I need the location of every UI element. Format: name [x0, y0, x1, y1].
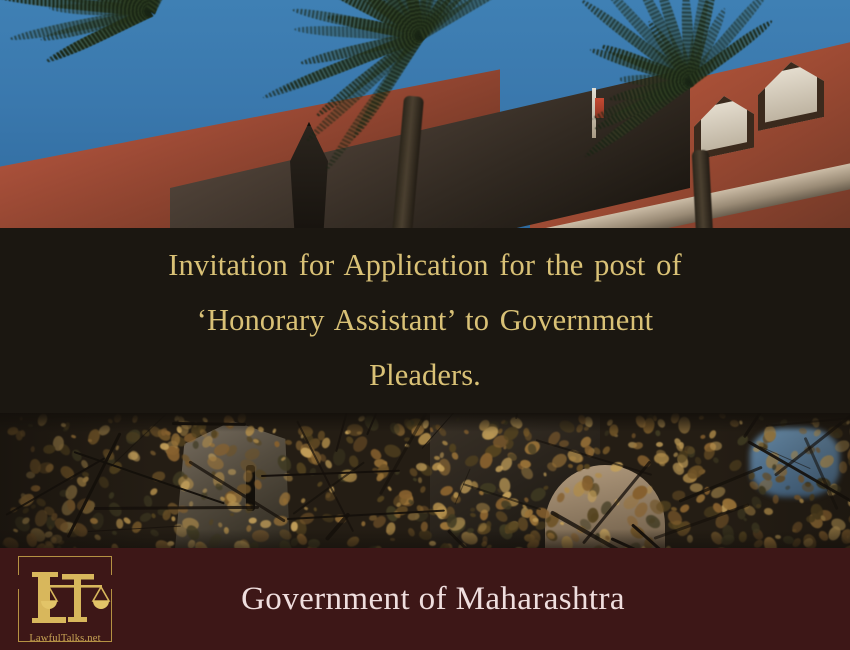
footer-title: Government of Maharashtra — [126, 581, 850, 618]
palm-frond — [415, 0, 445, 37]
palm-frond — [0, 0, 151, 17]
hero-image-bottom — [0, 413, 850, 548]
logo-lockup[interactable]: LawfulTalks.net — [6, 552, 126, 646]
palm-frond — [54, 0, 152, 16]
palm-frond — [39, 6, 153, 45]
palm-frond — [302, 0, 422, 40]
palm-frond — [73, 0, 155, 14]
palm-frond — [278, 31, 422, 96]
palm-frond — [124, 0, 155, 12]
hero-image-top — [0, 0, 850, 228]
palm-frond — [0, 0, 150, 17]
palm-frond — [417, 0, 538, 40]
palm-frond — [319, 0, 424, 39]
title-line: Pleaders. — [35, 348, 815, 403]
palm-frond — [42, 7, 153, 67]
photo-vignette — [0, 413, 850, 548]
palm-frond — [291, 4, 421, 40]
palm-frond — [294, 24, 420, 41]
title-line: Invitation for Application for the post … — [35, 238, 815, 293]
palm-frond — [145, 0, 196, 13]
title-line: ‘Honorary Assistant’ to Government — [35, 293, 815, 348]
poster-root: Invitation for Application for the post … — [0, 0, 850, 650]
palm-frond — [289, 0, 424, 40]
palm-frond — [685, 0, 720, 83]
palm-frond — [60, 0, 154, 15]
palm-frond — [49, 7, 153, 63]
footer-band: LawfulTalks.net Government of Maharashtr… — [0, 548, 850, 650]
palm-frond — [395, 0, 426, 37]
palm-frond — [23, 0, 151, 17]
flagpole — [592, 88, 596, 138]
palm-frond — [58, 0, 154, 15]
palm-frond — [344, 0, 426, 38]
palm-frond — [49, 3, 150, 17]
palm-frond — [8, 6, 152, 44]
scales-of-justice-icon — [18, 556, 112, 642]
palm-frond — [415, 0, 469, 38]
logo-site-label: LawfulTalks.net — [18, 633, 112, 644]
palm-frond — [145, 0, 219, 14]
palm-frond — [140, 0, 156, 12]
palm-frond — [326, 11, 421, 41]
palm-frond — [388, 0, 425, 36]
palm-frond — [318, 0, 425, 39]
palm-frond — [17, 0, 153, 16]
palm-frond — [416, 0, 508, 39]
poster-title: Invitation for Application for the post … — [35, 238, 815, 403]
palm-frond — [415, 0, 428, 36]
title-band: Invitation for Application for the post … — [0, 228, 850, 413]
palm-frond — [146, 0, 234, 15]
palm-frond — [145, 0, 174, 13]
palm-frond — [135, 0, 155, 12]
palm-frond — [418, 0, 568, 41]
palm-frond — [417, 0, 495, 40]
palm-frond — [317, 0, 423, 40]
palm-frond — [415, 0, 454, 37]
palm-frond — [27, 0, 154, 16]
palm-frond — [298, 30, 422, 68]
palm-frond — [97, 0, 156, 13]
